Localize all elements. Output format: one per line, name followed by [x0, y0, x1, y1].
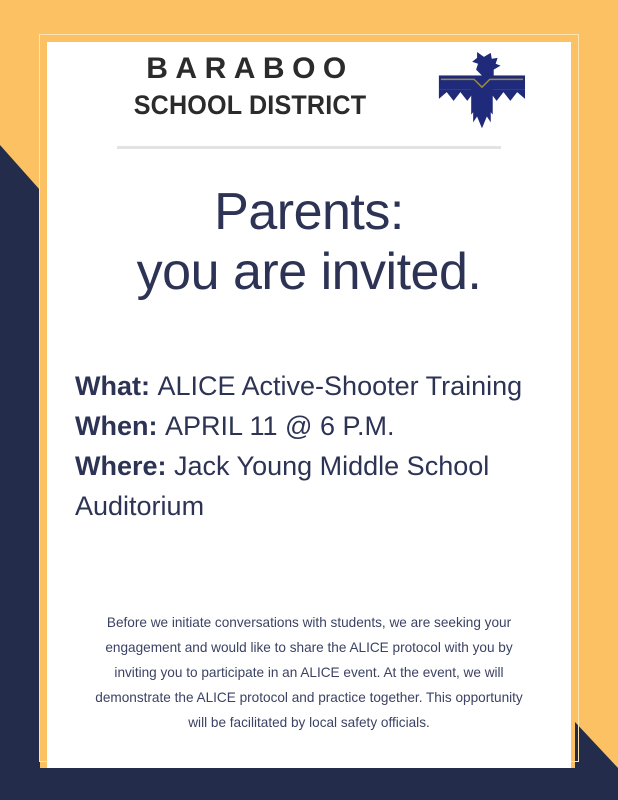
- masthead: BARABOO SCHOOL DISTRICT: [47, 42, 571, 154]
- headline-line-1: Parents:: [47, 182, 571, 242]
- detail-value-when: APRIL 11 @ 6 P.M.: [165, 411, 395, 441]
- detail-label-where: Where:: [75, 451, 174, 481]
- district-name-primary: BARABOO: [100, 50, 400, 88]
- navy-left-wedge: [0, 145, 40, 800]
- navy-bottom-band: [0, 768, 618, 800]
- thunderbird-icon: [431, 50, 529, 142]
- page-title: Parents: you are invited.: [47, 182, 571, 302]
- body-copy-text: Before we initiate conversations with st…: [87, 610, 531, 735]
- district-brand: BARABOO SCHOOL DISTRICT: [100, 50, 400, 122]
- detail-label-when: When:: [75, 411, 165, 441]
- detail-row-what: What: ALICE Active-Shooter Training: [75, 366, 555, 406]
- event-details: What: ALICE Active-Shooter Training When…: [75, 366, 555, 526]
- body-copy: Before we initiate conversations with st…: [87, 610, 531, 735]
- detail-row-where: Where: Jack Young Middle School Auditori…: [75, 446, 555, 526]
- detail-label-what: What:: [75, 371, 157, 401]
- detail-value-what: ALICE Active-Shooter Training: [157, 371, 522, 401]
- detail-row-when: When: APRIL 11 @ 6 P.M.: [75, 406, 555, 446]
- navy-bottom-right-wedge: [575, 722, 618, 800]
- event-flyer: BARABOO SCHOOL DISTRICT: [0, 0, 618, 800]
- masthead-divider: [117, 146, 501, 149]
- headline-line-2: you are invited.: [47, 242, 571, 302]
- flyer-card: BARABOO SCHOOL DISTRICT: [47, 42, 571, 768]
- district-name-secondary: SCHOOL DISTRICT: [111, 88, 390, 122]
